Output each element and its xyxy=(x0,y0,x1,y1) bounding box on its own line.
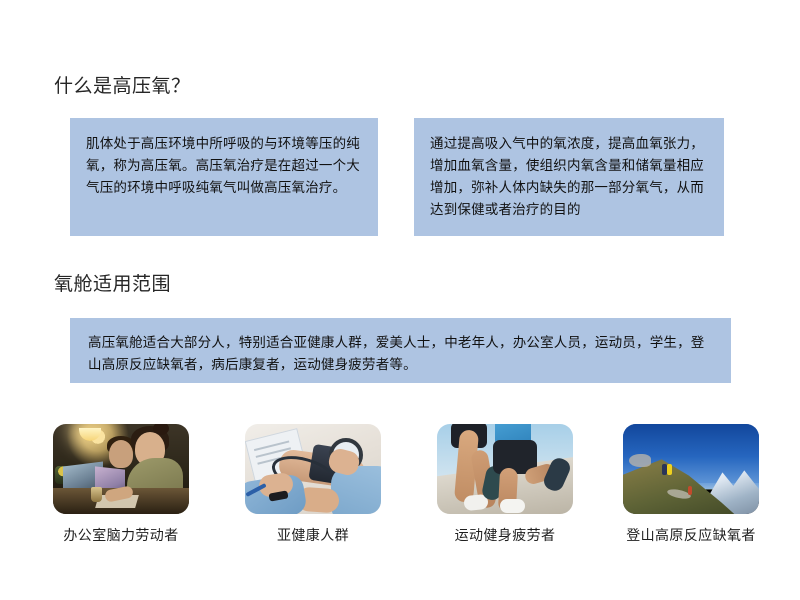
mechanism-panel-text: 通过提高吸入气中的氧浓度，提高血氧张力，增加血氧含量，使组织内氧含量和储氧量相应… xyxy=(430,133,708,220)
page-title-what-is-hbo: 什么是高压氧？ xyxy=(54,76,191,99)
page-title-scope: 氧舱适用范围 xyxy=(54,274,171,297)
slide-canvas: 什么是高压氧？ 肌体处于高压环境中所呼吸的与环境等压的纯氧，称为高压氧。高压氧治… xyxy=(0,0,800,600)
definition-text-panel: 肌体处于高压环境中所呼吸的与环境等压的纯氧，称为高压氧。高压氧治疗是在超过一个大… xyxy=(70,118,378,236)
thumbnail-caption: 运动健身疲劳者 xyxy=(415,525,595,545)
blood-pressure-check-photo xyxy=(245,424,381,514)
mountain-trekking-photo xyxy=(623,424,759,514)
thumbnail-cell-mountain: 登山高原反应缺氧者 xyxy=(601,424,781,545)
thumbnail-row: 办公室脑力劳动者 亚 xyxy=(0,424,800,554)
definition-panel-text: 肌体处于高压环境中所呼吸的与环境等压的纯氧，称为高压氧。高压氧治疗是在超过一个大… xyxy=(86,133,362,199)
trekker-icon xyxy=(667,464,672,475)
office-worker-photo xyxy=(53,424,189,514)
thumbnail-cell-office: 办公室脑力劳动者 xyxy=(31,424,211,545)
thumbnail-caption: 办公室脑力劳动者 xyxy=(31,525,211,545)
mechanism-text-panel: 通过提高吸入气中的氧浓度，提高血氧张力，增加血氧含量，使组织内氧含量和储氧量相应… xyxy=(414,118,724,236)
colleague-head-icon xyxy=(109,440,133,468)
thumbnail-caption: 亚健康人群 xyxy=(223,525,403,545)
coffee-cup-icon xyxy=(91,487,102,502)
desk-lamp-icon xyxy=(79,428,101,441)
thumbnail-caption: 登山高原反应缺氧者 xyxy=(601,525,781,545)
rock-icon xyxy=(629,454,651,467)
thumbnail-cell-runners: 运动健身疲劳者 xyxy=(415,424,595,545)
scope-panel-text: 高压氧舱适合大部分人，特别适合亚健康人群，爱美人士，中老年人，办公室人员，运动员… xyxy=(88,332,713,376)
trekker-icon xyxy=(688,486,692,495)
runners-photo xyxy=(437,424,573,514)
thumbnail-cell-subhealth: 亚健康人群 xyxy=(223,424,403,545)
runner-b-shoe-icon xyxy=(500,499,525,513)
scope-text-panel: 高压氧舱适合大部分人，特别适合亚健康人群，爱美人士，中老年人，办公室人员，运动员… xyxy=(70,318,731,383)
